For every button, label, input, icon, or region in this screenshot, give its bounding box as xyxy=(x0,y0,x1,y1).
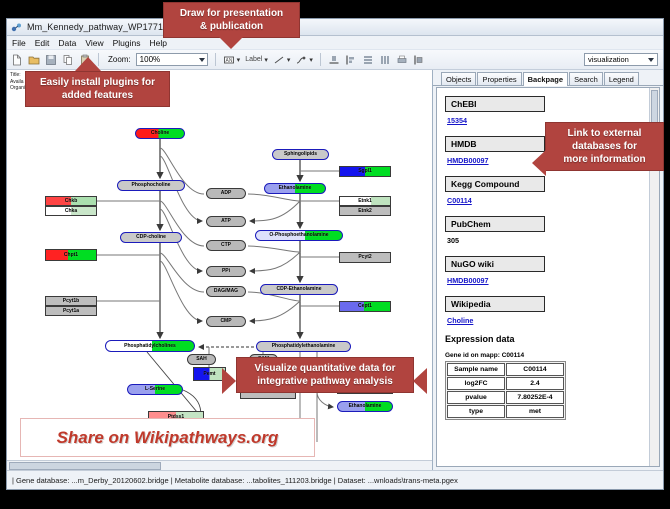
table-row: type met xyxy=(447,405,564,418)
chevron-down-icon xyxy=(199,58,205,62)
cell-key: pvalue xyxy=(447,391,505,404)
canvas-horizontal-scrollbar[interactable] xyxy=(7,460,432,470)
pathway-organism-label: Organi xyxy=(10,85,25,92)
db-header-pubchem: PubChem xyxy=(445,216,545,232)
pathway-canvas[interactable]: Title: Availa Organi xyxy=(7,70,433,470)
gene-node[interactable]: Cept1 xyxy=(339,301,391,312)
callout-share-text: Share on Wikipathways.org xyxy=(57,428,279,448)
node-label: Choline xyxy=(151,131,169,136)
callout-plugins-line1: Easily install plugins for xyxy=(40,77,155,88)
node-label: Cept1 xyxy=(358,304,372,309)
metabolite-node[interactable]: CDP-Ethanolamine xyxy=(260,284,338,295)
node-label: Etnk2 xyxy=(358,209,372,214)
callout-link-line2: databases for xyxy=(572,141,637,152)
callout-plugins-line2: added features xyxy=(62,90,133,101)
zoom-label: Zoom: xyxy=(108,55,131,64)
callout-draw-line2: & publication xyxy=(200,21,263,32)
chevron-down-icon[interactable]: ▾ xyxy=(237,56,241,64)
callout-draw-line1: Draw for presentation xyxy=(180,8,283,19)
visualization-value: visualization xyxy=(588,55,629,64)
node-icon[interactable]: AN xyxy=(223,54,235,66)
new-file-icon[interactable] xyxy=(11,54,23,66)
db-link-kegg-compound[interactable]: C00114 xyxy=(447,196,647,205)
cell-value: 2.4 xyxy=(506,377,564,390)
side-panel-tabs: Objects Properties Backpage Search Legen… xyxy=(433,70,663,86)
cell-key: Sample name xyxy=(447,363,505,376)
cell-value: 7.80252E-4 xyxy=(506,391,564,404)
save-icon[interactable] xyxy=(45,54,57,66)
align-bottom-icon[interactable] xyxy=(328,54,340,66)
node-label: Pcyt1b xyxy=(63,299,79,304)
chevron-down-icon[interactable]: ▾ xyxy=(264,56,268,64)
status-bar: | Gene database: ...m_Derby_20120602.bri… xyxy=(7,470,663,489)
gene-node[interactable]: Pcyt1a xyxy=(45,306,97,316)
metabolite-node[interactable]: PPi xyxy=(206,266,246,277)
toolbar-separator xyxy=(215,53,216,66)
metabolite-node[interactable]: Ethanolamine xyxy=(337,401,393,412)
metabolite-node[interactable]: SAH xyxy=(187,354,216,365)
callout-plugins-arrow xyxy=(75,57,101,71)
node-label: O-Phosphoethanolamine xyxy=(269,233,328,238)
expression-table: Sample name C00114 log2FC 2.4 pvalue 7.8… xyxy=(445,361,566,420)
callout-visualize-arrow-right xyxy=(413,368,427,394)
metabolite-node[interactable]: ATP xyxy=(206,216,246,227)
title-bar: Mm_Kennedy_pathway_WP1771_45176.gpml xyxy=(7,19,663,36)
node-label: Chkb xyxy=(65,199,78,204)
node-label: SAH xyxy=(196,357,207,362)
node-label: Sgpl1 xyxy=(358,169,372,174)
node-label: Chpt1 xyxy=(64,253,78,258)
node-label: Ethanolamine xyxy=(279,186,312,191)
db-header-nugo-wiki: NuGO wiki xyxy=(445,256,545,272)
node-label: ADP xyxy=(221,191,232,196)
node-label: Sphingolipids xyxy=(284,152,317,157)
callout-visualize-arrow-left xyxy=(222,368,236,394)
table-row: Sample name C00114 xyxy=(447,363,564,376)
db-link-nugo-wiki[interactable]: HMDB00097 xyxy=(447,276,647,285)
callout-link-line3: more information xyxy=(563,154,645,165)
node-label: Pemt xyxy=(203,372,215,377)
node-label: Phosphatidylethanolamine xyxy=(272,344,336,349)
zoom-combobox[interactable]: 100% xyxy=(136,53,208,66)
table-row: log2FC 2.4 xyxy=(447,377,564,390)
db-header-kegg-compound: Kegg Compound xyxy=(445,176,545,192)
metabolite-node[interactable]: ADP xyxy=(206,188,246,199)
menu-item-plugins[interactable]: Plugins xyxy=(113,38,141,48)
gene-node[interactable]: Etnk1 xyxy=(339,196,391,206)
node-label: CDP-choline xyxy=(136,235,166,240)
callout-link-line1: Link to external xyxy=(568,128,642,139)
copy-icon[interactable] xyxy=(62,54,74,66)
menu-item-data[interactable]: Data xyxy=(58,38,76,48)
zoom-value: 100% xyxy=(140,55,160,64)
pathvisio-icon xyxy=(11,22,22,33)
gene-node[interactable]: Sgpl1 xyxy=(339,166,391,177)
menu-bar: File Edit Data View Plugins Help xyxy=(7,36,663,50)
menu-item-view[interactable]: View xyxy=(85,38,103,48)
cell-key: type xyxy=(447,405,505,418)
status-text: | Gene database: ...m_Derby_20120602.bri… xyxy=(12,476,458,485)
tab-backpage[interactable]: Backpage xyxy=(523,72,568,86)
menu-item-help[interactable]: Help xyxy=(150,38,167,48)
menu-item-file[interactable]: File xyxy=(12,38,26,48)
metabolite-node[interactable]: CTP xyxy=(206,240,246,251)
node-label: Phosphatidylcholines xyxy=(124,344,176,349)
distribute-icon[interactable] xyxy=(379,54,391,66)
tool-bar: Zoom: 100% AN ▾ Label ▾ ▾ ▾ visualizatio… xyxy=(7,50,663,70)
db-value-pubchem: 305 xyxy=(447,236,647,245)
gene-node[interactable]: Pcyt1b xyxy=(45,296,97,306)
gene-node[interactable]: Pcyt2 xyxy=(339,252,391,263)
node-label: L-Serine xyxy=(145,387,165,392)
metabolite-node[interactable]: Choline xyxy=(135,128,185,139)
stack-vertical-icon[interactable] xyxy=(362,54,374,66)
metabolite-node[interactable]: L-Serine xyxy=(127,384,183,395)
gene-id-on-mapp: Gene id on mapp: C00114 xyxy=(445,352,647,359)
anchor-icon[interactable] xyxy=(295,54,307,66)
callout-link-arrow xyxy=(532,150,546,176)
label-tool-label[interactable]: Label xyxy=(245,56,262,63)
tab-properties[interactable]: Properties xyxy=(477,72,521,85)
callout-visualize-line1: Visualize quantitative data for xyxy=(255,363,396,374)
gene-node[interactable]: Chkb xyxy=(45,196,97,206)
callout-visualize-line2: integrative pathway analysis xyxy=(257,376,393,387)
db-header-hmdb: HMDB xyxy=(445,136,545,152)
metabolite-node[interactable]: O-Phosphoethanolamine xyxy=(255,230,343,241)
node-label: PPi xyxy=(222,269,230,274)
tab-legend[interactable]: Legend xyxy=(604,72,639,85)
metabolite-node[interactable]: Ethanolamine xyxy=(264,183,326,194)
tab-objects[interactable]: Objects xyxy=(441,72,476,85)
node-label: Pcyt1a xyxy=(63,309,79,314)
node-label: Etnk1 xyxy=(358,199,372,204)
metabolite-node[interactable]: Phosphocholine xyxy=(117,180,185,191)
print-icon[interactable] xyxy=(396,54,408,66)
callout-plugins: Easily install plugins for added feature… xyxy=(25,71,170,107)
chevron-down-icon[interactable]: ▾ xyxy=(287,56,291,64)
callout-visualize: Visualize quantitative data for integrat… xyxy=(236,357,414,393)
chevron-down-icon xyxy=(648,58,654,62)
node-label: Ethanolamine xyxy=(349,404,382,409)
chevron-down-icon[interactable]: ▾ xyxy=(309,56,313,64)
open-folder-icon[interactable] xyxy=(28,54,40,66)
metabolite-node[interactable]: DAG/MAG xyxy=(206,286,246,297)
metabolite-node[interactable]: CDP-choline xyxy=(120,232,182,243)
align-left-icon[interactable] xyxy=(345,54,357,66)
db-header-wikipedia: Wikipedia xyxy=(445,296,545,312)
metabolite-node[interactable]: Sphingolipids xyxy=(272,149,329,160)
db-link-wikipedia[interactable]: Choline xyxy=(447,316,647,325)
cell-value: C00114 xyxy=(506,363,564,376)
line-icon[interactable] xyxy=(273,54,285,66)
callout-share: Share on Wikipathways.org xyxy=(20,418,315,457)
menu-item-edit[interactable]: Edit xyxy=(35,38,50,48)
metabolite-node[interactable]: Phosphatidylethanolamine xyxy=(256,341,351,352)
node-label: Pcyt2 xyxy=(358,255,371,260)
gene-node[interactable]: Etnk2 xyxy=(339,206,391,216)
node-label: CTP xyxy=(221,243,231,248)
gene-node[interactable]: Chpt1 xyxy=(45,249,97,261)
callout-link: Link to external databases for more info… xyxy=(545,122,664,171)
callout-draw-arrow xyxy=(218,36,244,49)
visualization-combobox[interactable]: visualization xyxy=(584,53,658,66)
metabolite-node[interactable]: CMP xyxy=(206,316,246,327)
layout-icon[interactable] xyxy=(413,54,425,66)
tab-search[interactable]: Search xyxy=(569,72,603,85)
node-label: ATP xyxy=(221,219,231,224)
node-label: Chka xyxy=(65,209,77,214)
svg-text:AN: AN xyxy=(225,58,232,64)
expression-data-title: Expression data xyxy=(445,334,647,344)
screenshot-root: Mm_Kennedy_pathway_WP1771_45176.gpml Fil… xyxy=(0,0,670,509)
table-row: pvalue 7.80252E-4 xyxy=(447,391,564,404)
pathway-meta: Title: Availa Organi xyxy=(10,72,25,92)
node-label: CDP-Ethanolamine xyxy=(276,287,321,292)
callout-draw: Draw for presentation & publication xyxy=(163,2,300,38)
cell-key: log2FC xyxy=(447,377,505,390)
cell-value: met xyxy=(506,405,564,418)
gene-node[interactable]: Chka xyxy=(45,206,97,216)
db-header-chebi: ChEBI xyxy=(445,96,545,112)
node-label: CMP xyxy=(220,319,231,324)
scrollbar-thumb[interactable] xyxy=(9,462,161,470)
node-label: Phosphocholine xyxy=(132,183,171,188)
toolbar-separator xyxy=(320,53,321,66)
metabolite-node[interactable]: Phosphatidylcholines xyxy=(105,340,195,352)
node-label: DAG/MAG xyxy=(214,289,238,294)
